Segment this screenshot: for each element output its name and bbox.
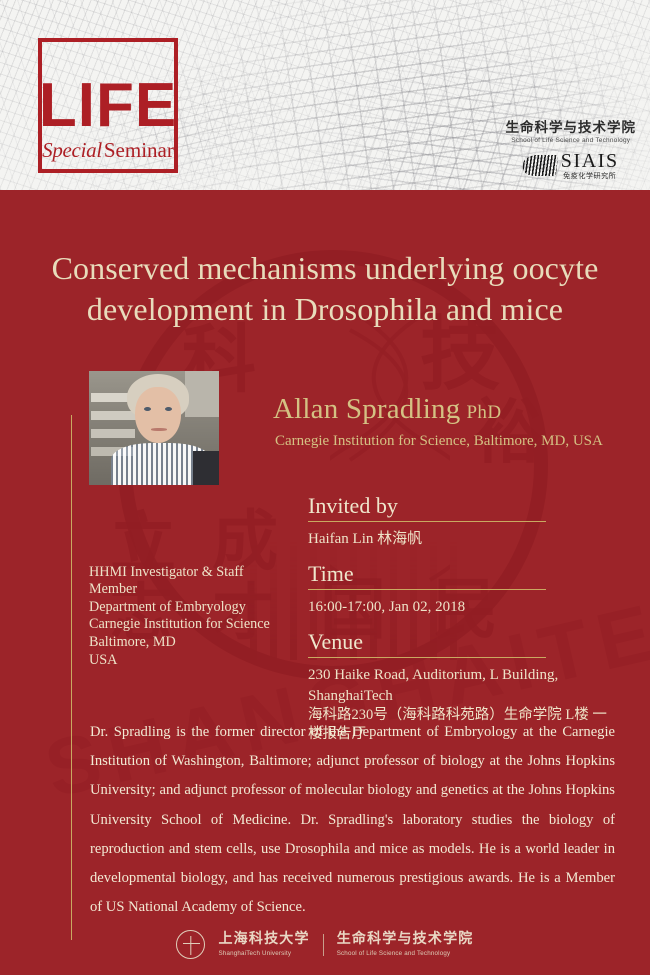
life-logo-subtitle: Special Seminar <box>42 138 174 163</box>
header-institution-logos: 生命科学与技术学院 School of Life Science and Tec… <box>506 120 637 180</box>
school-logo-en: School of Life Science and Technology <box>506 137 637 144</box>
footer-university-logo: 上海科技大学 ShanghaiTech University <box>218 932 309 957</box>
abstract-paragraph: Dr. Spradling is the former director of … <box>90 718 615 922</box>
footer-school-logo: 生命科学与技术学院 School of Life Science and Tec… <box>337 932 474 957</box>
siais-mark-icon <box>522 155 558 176</box>
siais-logo-word: SIAIS <box>561 150 619 172</box>
footer-divider <box>323 934 324 956</box>
vertical-gold-divider <box>71 415 72 940</box>
bio-line-4: USA <box>89 652 274 669</box>
siais-logo: SIAIS 免疫化学研究所 <box>506 151 637 180</box>
photo-face <box>135 387 181 443</box>
footer-school-en: School of Life Science and Technology <box>337 950 474 957</box>
speaker-bio-block: HHMI Investigator & Staff Member Departm… <box>89 564 274 670</box>
poster-footer: 上海科技大学 ShanghaiTech University 生命科学与技术学院… <box>0 930 650 959</box>
photo-foreground-object <box>193 451 219 485</box>
page-title: Conserved mechanisms underlying oocyte d… <box>10 248 640 330</box>
invited-by-label: Invited by <box>308 493 546 522</box>
siais-logo-cn: 免疫化学研究所 <box>561 173 619 180</box>
footer-university-cn: 上海科技大学 <box>218 932 309 948</box>
time-label: Time <box>308 561 546 590</box>
time-value: 16:00-17:00, Jan 02, 2018 <box>308 597 608 617</box>
speaker-affiliation: Carnegie Institution for Science, Baltim… <box>275 433 603 450</box>
venue-label: Venue <box>308 629 546 658</box>
school-logo-cn: 生命科学与技术学院 <box>506 120 637 136</box>
seminar-poster: LIFE Special Seminar 生命科学与技术学院 School of… <box>0 0 650 975</box>
poster-header: LIFE Special Seminar 生命科学与技术学院 School of… <box>0 0 650 190</box>
life-seminar-logo: LIFE Special Seminar <box>38 38 178 173</box>
life-logo-seminar-text: Seminar <box>104 138 174 163</box>
life-logo-word: LIFE <box>39 77 177 136</box>
photo-shelf-3 <box>91 429 135 438</box>
bio-line-2: Carnegie Institution for Science <box>89 616 274 633</box>
bio-line-3: Baltimore, MD <box>89 634 274 651</box>
photo-mouth <box>151 428 167 431</box>
photo-eye-right <box>165 407 172 411</box>
photo-window <box>185 371 219 417</box>
venue-value-en: 230 Haike Road, Auditorium, L Building, … <box>308 665 608 706</box>
bio-line-0: HHMI Investigator & Staff Member <box>89 564 274 598</box>
photo-shelf-2 <box>91 411 137 420</box>
footer-school-cn: 生命科学与技术学院 <box>337 932 474 948</box>
footer-university-en: ShanghaiTech University <box>218 950 309 957</box>
speaker-photo-inner <box>89 371 219 485</box>
poster-body: 科 技 立 成 志 才 国 民 裕 SHANGHAITECH UNIV Cons… <box>0 190 650 975</box>
speaker-name: Allan SpradlingPhD <box>273 393 501 426</box>
speaker-degree: PhD <box>466 402 501 423</box>
life-logo-special-text: Special <box>42 138 102 163</box>
invited-by-value: Haifan Lin 林海帆 <box>308 529 608 549</box>
speaker-photo <box>89 371 219 485</box>
watermark-char-8: 裕 <box>472 376 542 477</box>
shanghaitech-seal-icon <box>176 930 205 959</box>
bio-line-1: Department of Embryology <box>89 599 274 616</box>
speaker-name-text: Allan Spradling <box>273 393 460 425</box>
photo-eye-left <box>144 407 151 411</box>
siais-logo-text: SIAIS 免疫化学研究所 <box>561 151 619 180</box>
